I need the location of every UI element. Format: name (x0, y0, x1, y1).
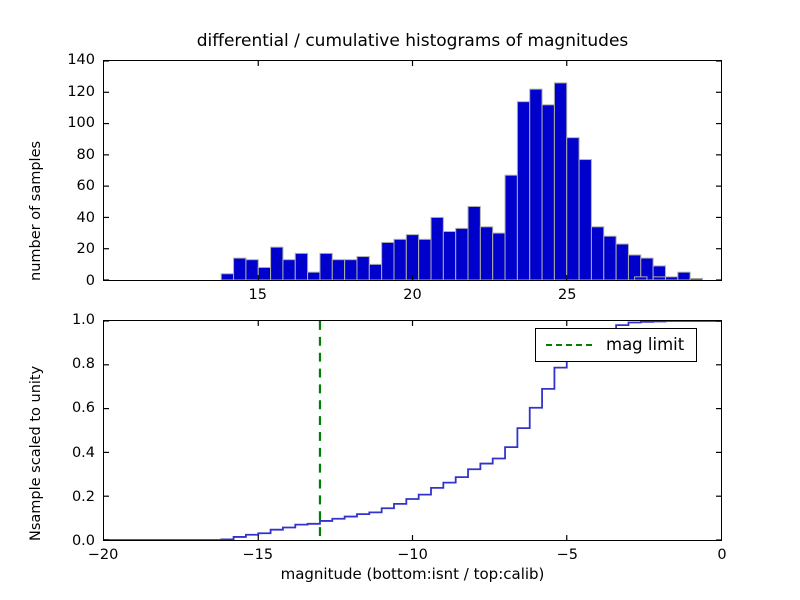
histogram-bar (604, 236, 616, 280)
legend-box: mag limit (535, 328, 697, 362)
histogram-bar (271, 247, 283, 280)
histogram-bar (443, 232, 455, 280)
histogram-bar (690, 278, 702, 280)
top-panel-axes (103, 60, 722, 281)
histogram-bar (234, 258, 246, 280)
top-ytick-label: 60 (77, 178, 95, 194)
histogram-bar (579, 160, 591, 280)
histogram-bar (221, 274, 233, 280)
bottom-ytick-label: 0.8 (72, 356, 95, 372)
top-xtick-label: 15 (249, 287, 267, 303)
histogram-bar (635, 277, 647, 280)
histogram-bar (369, 264, 381, 280)
histogram-bar (542, 105, 554, 280)
histogram-bar (591, 227, 603, 280)
bottom-ytick-label: 0.4 (72, 445, 95, 461)
bottom-xtick-label: −5 (557, 547, 578, 563)
bottom-panel-ylabel: Nsample scaled to unity (28, 366, 44, 541)
top-ytick-label: 120 (67, 84, 95, 100)
histogram-bar (419, 239, 431, 280)
histogram-bar (295, 253, 307, 280)
histogram-bar (616, 244, 628, 280)
histogram-bar (567, 138, 579, 280)
bottom-xtick-label: 0 (717, 547, 726, 563)
top-ytick-label: 80 (77, 147, 95, 163)
bottom-ytick-label: 0.2 (72, 489, 95, 505)
bottom-xtick-label: −15 (242, 547, 273, 563)
histogram-bar (665, 277, 677, 280)
histogram-bar (678, 272, 690, 280)
histogram-bar (468, 206, 480, 280)
histogram-bar (308, 272, 320, 280)
histogram-bar (258, 267, 270, 280)
figure-canvas: differential / cumulative histograms of … (0, 0, 800, 600)
legend-label-mag-limit: mag limit (606, 336, 684, 354)
histogram-bar (320, 253, 332, 280)
histogram-bar (505, 175, 517, 280)
histogram-plot-area (104, 61, 721, 280)
top-ytick-label: 0 (86, 273, 95, 289)
top-xtick-label: 20 (403, 287, 421, 303)
bottom-ytick-label: 1.0 (72, 312, 95, 328)
figure-title: differential / cumulative histograms of … (103, 30, 722, 52)
figure-xlabel: magnitude (bottom:isnt / top:calib) (103, 565, 722, 583)
histogram-bar (653, 277, 665, 280)
histogram-bar (431, 217, 443, 280)
histogram-bar (530, 89, 542, 280)
histogram-bar (394, 239, 406, 280)
bottom-xtick-label: −10 (397, 547, 428, 563)
histogram-bar (406, 235, 418, 280)
histogram-bar (382, 242, 394, 280)
top-ytick-label: 20 (77, 241, 95, 257)
top-ytick-label: 100 (67, 115, 95, 131)
histogram-bar (456, 228, 468, 280)
histogram-bar (345, 260, 357, 280)
bottom-xtick-label: −20 (88, 547, 119, 563)
mag-limit-line-swatch (546, 344, 592, 346)
histogram-bar (283, 260, 295, 280)
histogram-bar (357, 257, 369, 280)
histogram-bar (628, 255, 640, 280)
histogram-bar (246, 260, 258, 280)
histogram-bar (517, 102, 529, 280)
top-ytick-label: 40 (77, 210, 95, 226)
top-ytick-label: 140 (67, 52, 95, 68)
top-xtick-label: 25 (558, 287, 576, 303)
histogram-bar (493, 233, 505, 280)
bottom-ytick-label: 0.6 (72, 400, 95, 416)
histogram-bar (480, 227, 492, 280)
top-panel-ylabel: number of samples (28, 141, 44, 281)
histogram-bar (332, 260, 344, 280)
histogram-bar (554, 83, 566, 280)
